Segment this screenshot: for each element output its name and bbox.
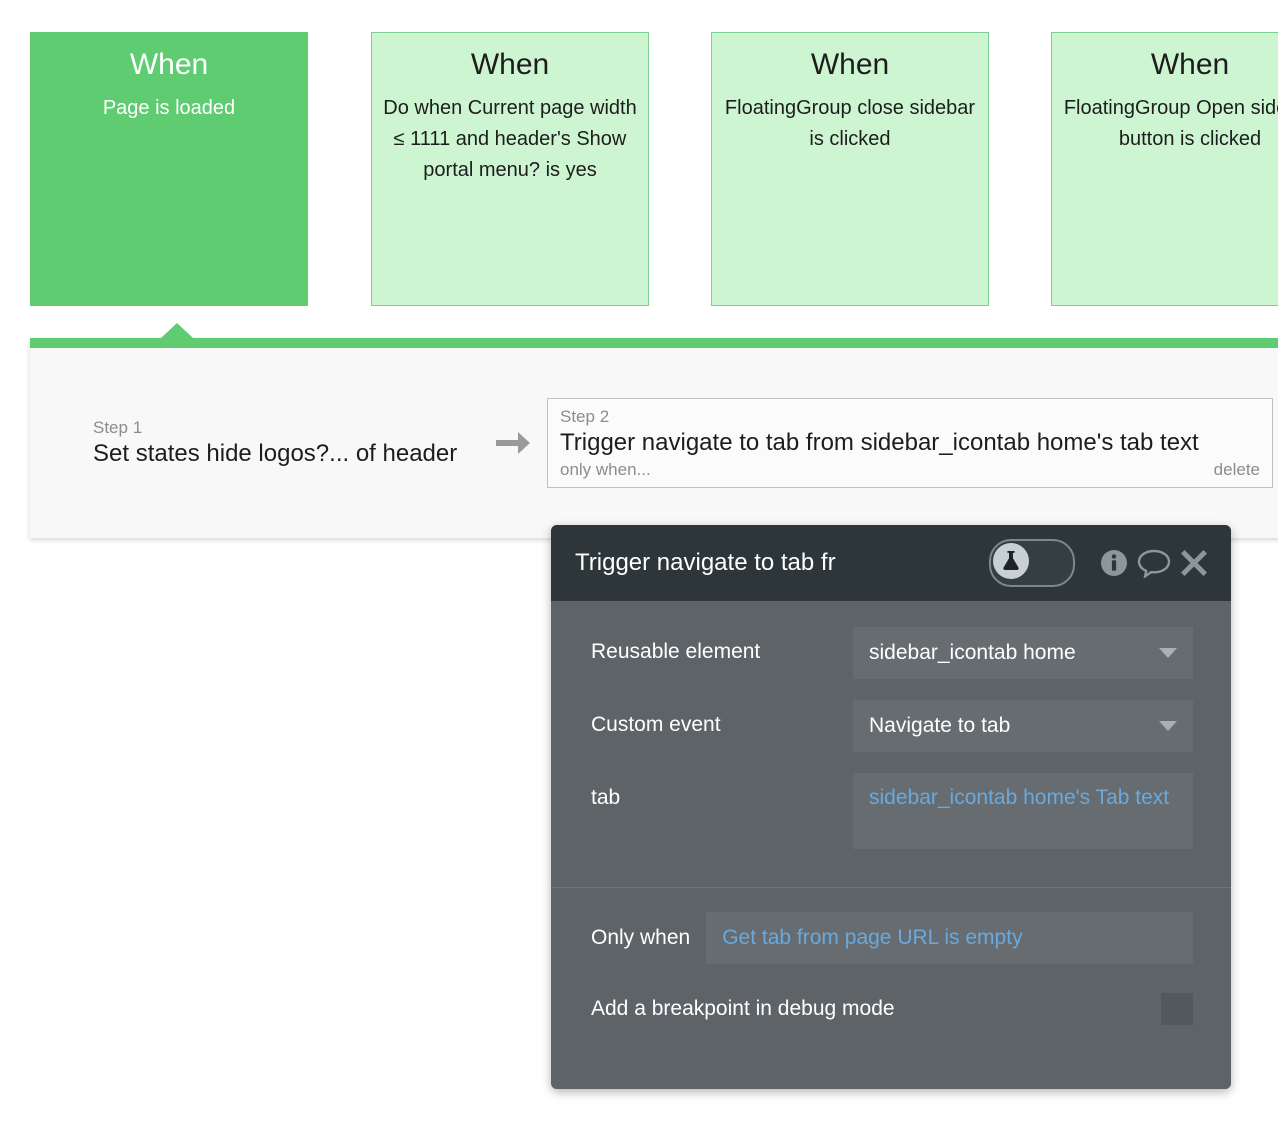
event-description: FloatingGroup Open sidebar button is cli…: [1062, 93, 1278, 155]
comment-icon[interactable]: [1137, 548, 1171, 578]
reusable-element-value: sidebar_icontab home: [869, 638, 1149, 668]
event-description: FloatingGroup close sidebar is clicked: [722, 93, 978, 155]
field-label-tab: tab: [591, 773, 853, 813]
event-description: Do when Current page width ≤ 1111 and he…: [382, 93, 638, 186]
step-1-label: Step 1: [93, 417, 493, 439]
chevron-down-icon: [1159, 721, 1177, 731]
steps-pointer-triangle: [160, 323, 194, 339]
steps-accent-bar: [30, 338, 1278, 348]
event-card-page-width[interactable]: When Do when Current page width ≤ 1111 a…: [371, 32, 649, 306]
event-when-label: When: [382, 47, 638, 83]
steps-body: Step 1 Set states hide logos?... of head…: [30, 348, 1278, 538]
property-editor-panel: Trigger navigate to tab fr: [551, 525, 1231, 1089]
steps-panel: Step 1 Set states hide logos?... of head…: [30, 338, 1278, 538]
step-arrow-icon: [493, 429, 533, 457]
breakpoint-label: Add a breakpoint in debug mode: [591, 994, 1161, 1024]
property-editor-header: Trigger navigate to tab fr: [551, 525, 1231, 601]
step-1[interactable]: Step 1 Set states hide logos?... of head…: [93, 417, 493, 469]
info-icon[interactable]: [1099, 548, 1129, 578]
event-card-close-sidebar[interactable]: When FloatingGroup close sidebar is clic…: [711, 32, 989, 306]
panel-divider: [551, 887, 1231, 888]
event-when-label: When: [41, 47, 297, 83]
breakpoint-checkbox[interactable]: [1161, 993, 1193, 1025]
tab-value-field[interactable]: sidebar_icontab home's Tab text: [853, 773, 1193, 849]
field-row-custom-event: Custom event Navigate to tab: [551, 700, 1231, 752]
event-cards-row: When Page is loaded When Do when Current…: [0, 0, 1278, 338]
event-card-open-sidebar[interactable]: When FloatingGroup Open sidebar button i…: [1051, 32, 1278, 306]
field-row-reusable-element: Reusable element sidebar_icontab home: [551, 627, 1231, 679]
step-1-title: Set states hide logos?... of header: [93, 439, 493, 469]
event-description: Page is loaded: [41, 93, 297, 124]
property-editor-body: Reusable element sidebar_icontab home Cu…: [551, 627, 1231, 1089]
custom-event-value: Navigate to tab: [869, 711, 1149, 741]
breakpoint-row: Add a breakpoint in debug mode: [551, 993, 1231, 1025]
field-label-custom-event: Custom event: [591, 700, 853, 740]
chevron-down-icon: [1159, 648, 1177, 658]
event-card-page-loaded[interactable]: When Page is loaded: [30, 32, 308, 306]
custom-event-dropdown[interactable]: Navigate to tab: [853, 700, 1193, 752]
step-2-title: Trigger navigate to tab from sidebar_ico…: [560, 428, 1260, 458]
only-when-condition-field[interactable]: Get tab from page URL is empty: [706, 912, 1193, 964]
event-when-label: When: [1062, 47, 1278, 83]
only-when-label: Only when: [591, 923, 690, 953]
only-when-row: Only when Get tab from page URL is empty: [551, 912, 1231, 964]
reusable-element-dropdown[interactable]: sidebar_icontab home: [853, 627, 1193, 679]
panel-title: Trigger navigate to tab fr: [575, 548, 989, 578]
tab-value: sidebar_icontab home's Tab text: [869, 783, 1177, 813]
field-row-tab: tab sidebar_icontab home's Tab text: [551, 773, 1231, 849]
step-2-label: Step 2: [560, 406, 1260, 428]
step-2-subrow: only when... delete: [560, 459, 1260, 481]
step-2-delete[interactable]: delete: [1214, 459, 1260, 481]
step-2[interactable]: Step 2 Trigger navigate to tab from side…: [547, 398, 1273, 488]
close-icon[interactable]: [1179, 548, 1209, 578]
field-label-reusable-element: Reusable element: [591, 627, 853, 667]
flask-toggle[interactable]: [989, 539, 1075, 587]
flask-icon: [993, 543, 1029, 579]
step-2-only-when[interactable]: only when...: [560, 459, 651, 481]
event-when-label: When: [722, 47, 978, 83]
